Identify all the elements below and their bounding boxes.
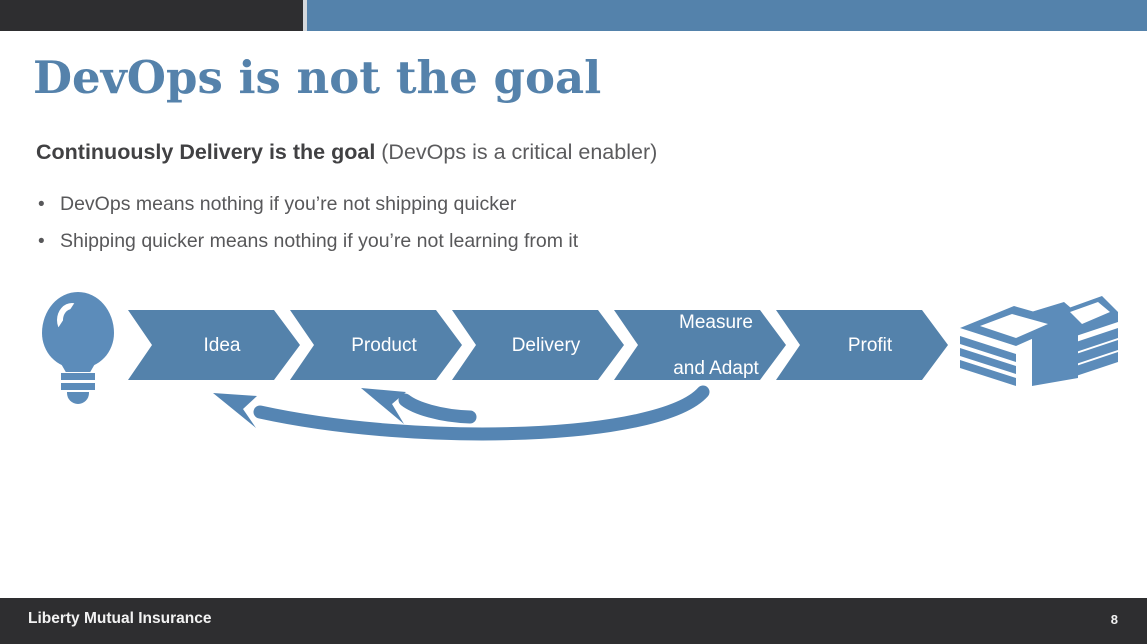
slide: DevOps is not the goal Continuously Deli… [0, 0, 1147, 644]
feedback-arrow-short [361, 388, 470, 424]
process-step-label: Profit [832, 334, 892, 357]
bullet-marker-icon: • [38, 223, 60, 260]
lightbulb-base-tip [67, 392, 89, 404]
page-title: DevOps is not the goal [33, 51, 601, 105]
lightbulb-icon [33, 292, 125, 392]
lightbulb-neck [60, 362, 96, 372]
money-stack-svg [952, 292, 1122, 390]
lightbulb-base-bar [61, 373, 95, 380]
money-stack-icon [952, 292, 1122, 390]
subtitle-emphasis: Continuously Delivery is the goal [36, 140, 375, 164]
process-step-label: Idea [188, 334, 241, 357]
slide-footer: Liberty Mutual Insurance 8 [0, 598, 1147, 644]
lightbulb-globe [42, 292, 114, 368]
top-bar-blue [307, 0, 1147, 31]
process-step-label-line1: Measure [657, 311, 759, 334]
process-step-label-line2: and Adapt [657, 357, 759, 380]
bullet-marker-icon: • [38, 186, 60, 223]
process-step-profit[interactable]: Profit [776, 310, 948, 380]
process-step-idea[interactable]: Idea [128, 310, 300, 380]
process-step-product[interactable]: Product [290, 310, 462, 380]
bullet-text: Shipping quicker means nothing if you’re… [60, 223, 578, 260]
list-item: • DevOps means nothing if you’re not shi… [38, 186, 938, 223]
subtitle-parenthetical: (DevOps is a critical enabler) [375, 140, 657, 164]
bullet-text: DevOps means nothing if you’re not shipp… [60, 186, 516, 223]
process-step-delivery[interactable]: Delivery [452, 310, 624, 380]
process-step-label: Product [335, 334, 416, 357]
lightbulb-base-bar [61, 383, 95, 390]
feedback-arrow-long [213, 392, 703, 434]
footer-company-name: Liberty Mutual Insurance [28, 610, 211, 628]
process-step-label: Delivery [496, 334, 581, 357]
slide-subtitle: Continuously Delivery is the goal (DevOp… [36, 138, 657, 166]
list-item: • Shipping quicker means nothing if you’… [38, 223, 938, 260]
bullet-list: • DevOps means nothing if you’re not shi… [38, 186, 938, 260]
process-step-measure-and-adapt[interactable]: Measureand Adapt [614, 310, 786, 380]
top-bar-dark [0, 0, 303, 31]
page-number: 8 [1111, 612, 1118, 627]
process-step-label: Measureand Adapt [641, 311, 759, 380]
